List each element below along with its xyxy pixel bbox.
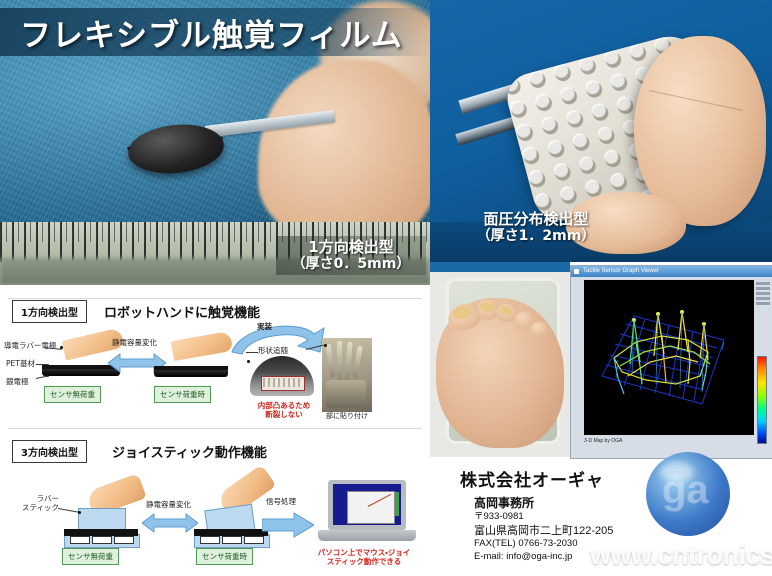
note-inner-convex: 内部凸あるため 断裂しない bbox=[241, 401, 327, 420]
signal-processing-arrow bbox=[262, 512, 314, 538]
pad-right-unloaded bbox=[114, 536, 134, 544]
laptop-illustration bbox=[318, 480, 416, 546]
state-loaded-1: センサ荷重時 bbox=[154, 386, 211, 403]
photo-foot-on-sensor bbox=[430, 262, 570, 457]
note-inner-convex-line1: 内部凸あるため bbox=[258, 401, 311, 410]
capacitance-double-arrow-2 bbox=[142, 512, 198, 534]
robot-finger-4 bbox=[352, 346, 362, 378]
caption-one-direction: 1方向検出型 （厚さ0．5mm） bbox=[276, 236, 426, 275]
inner-sensor-grating bbox=[263, 378, 301, 387]
control-line bbox=[756, 302, 770, 305]
control-line bbox=[756, 292, 770, 295]
caption-one-direction-line1: 1方向検出型 bbox=[276, 238, 426, 256]
laptop-base bbox=[318, 530, 416, 541]
label-shape-following: 形状追随 bbox=[258, 346, 288, 355]
watermark-url: www.cntronics.com bbox=[590, 540, 772, 571]
label-capacitance-change-2: 静電容量変化 bbox=[146, 500, 191, 509]
electrode-layer-unloaded bbox=[64, 529, 138, 536]
label-rubber-stick: ラバー スティック bbox=[22, 494, 59, 513]
note-pc-joystick: パソコン上でマウス・ジョイ スティック動作できる bbox=[300, 548, 428, 567]
label-capacitance-change-1: 静電容量変化 bbox=[112, 338, 157, 347]
pad-mid-loaded bbox=[222, 536, 242, 544]
plot-colorbar bbox=[757, 356, 767, 444]
app-pointer-needle bbox=[368, 494, 391, 507]
poster-title: フレキシブル触覚フィルム bbox=[20, 10, 403, 55]
label-mounting: 実装 bbox=[257, 322, 272, 331]
pad-left-unloaded bbox=[70, 536, 90, 544]
pad-right-loaded bbox=[244, 536, 264, 544]
surface-plot-window[interactable]: Tactile Sensor Graph Viewer bbox=[570, 265, 772, 459]
robot-finger-3 bbox=[344, 342, 352, 380]
note-inner-convex-line2: 断裂しない bbox=[265, 410, 303, 419]
note-pc-joystick-line2: スティック動作できる bbox=[327, 557, 401, 566]
photo-robot-hand bbox=[322, 338, 372, 412]
photo-foot-top-band bbox=[430, 262, 570, 272]
app-green-bar bbox=[395, 492, 399, 516]
headline-joystick: ジョイスティック動作機能 bbox=[112, 442, 267, 461]
leader-point-rubber-stick bbox=[78, 511, 81, 514]
laptop-screen-bezel bbox=[328, 480, 406, 530]
plot-controls-panel[interactable] bbox=[755, 280, 771, 448]
toenail-3 bbox=[500, 306, 512, 315]
robot-finger-1 bbox=[326, 344, 336, 378]
caption-pressure-line2: （厚さ1．2mm） bbox=[446, 228, 626, 245]
leader-pet bbox=[36, 364, 48, 365]
plot-window-titlebar: Tactile Sensor Graph Viewer bbox=[571, 266, 772, 277]
label-rubber-stick-line1: ラバー bbox=[37, 494, 59, 503]
laptop-app-window bbox=[347, 491, 395, 524]
watermark-logo-text: ga bbox=[662, 468, 709, 513]
note-pc-joystick-line1: パソコン上でマウス・ジョイ bbox=[318, 548, 411, 557]
state-unloaded-2: センサ無荷重 bbox=[62, 548, 119, 565]
state-unloaded-1: センサ無荷重 bbox=[44, 386, 101, 403]
caption-pressure-distribution: 面圧分布検出型 （厚さ1．2mm） bbox=[446, 207, 626, 248]
state-loaded-2: センサ荷重時 bbox=[196, 548, 253, 565]
robot-finger-2 bbox=[337, 341, 342, 381]
surface-plot-svg bbox=[584, 280, 754, 435]
label-signal-processing: 信号処理 bbox=[266, 497, 296, 506]
divider-middle bbox=[8, 428, 422, 429]
toe-5 bbox=[530, 322, 548, 337]
laptop-screen bbox=[333, 484, 401, 525]
label-conductive-rubber-electrode: 導電ラバー電極 bbox=[4, 341, 56, 350]
caption-pressure-line1: 面圧分布検出型 bbox=[446, 210, 626, 228]
control-line bbox=[756, 297, 770, 300]
label-silver-electrode: 銀電極 bbox=[6, 377, 29, 386]
tag-three-direction: 3方向検出型 bbox=[12, 440, 87, 463]
label-rubber-stick-line2: スティック bbox=[22, 503, 59, 512]
toenail-2 bbox=[480, 302, 494, 312]
window-icon bbox=[574, 269, 579, 274]
sensor-on-fingertip-dome bbox=[250, 356, 314, 402]
pad-left-loaded bbox=[200, 536, 220, 544]
silver-electrode-loaded bbox=[154, 370, 228, 377]
label-attach-to-part: 部に貼り付け bbox=[318, 412, 376, 421]
control-line bbox=[756, 282, 770, 285]
caption-one-direction-line2: （厚さ0．5mm） bbox=[276, 256, 426, 273]
finger-crease bbox=[649, 90, 743, 111]
tag-one-direction: 1方向検出型 bbox=[12, 300, 87, 323]
leader-point-robot bbox=[324, 344, 327, 347]
electrode-layer-loaded bbox=[194, 529, 268, 536]
surface-plot-canvas[interactable] bbox=[584, 280, 754, 435]
leader-point-dome bbox=[247, 360, 250, 363]
robot-palm bbox=[326, 380, 366, 408]
pad-mid-unloaded bbox=[92, 536, 112, 544]
poster-root: フレキシブル触覚フィルム 1方向検出型 （厚さ0．5mm） 面圧分布検出型 （厚… bbox=[0, 0, 772, 576]
divider-top bbox=[8, 298, 422, 299]
plot-statusbar: 3-D Map by OGA bbox=[584, 438, 754, 448]
leader-shape bbox=[246, 352, 258, 353]
label-pet-substrate: PET基材 bbox=[6, 359, 35, 368]
control-line bbox=[756, 287, 770, 290]
